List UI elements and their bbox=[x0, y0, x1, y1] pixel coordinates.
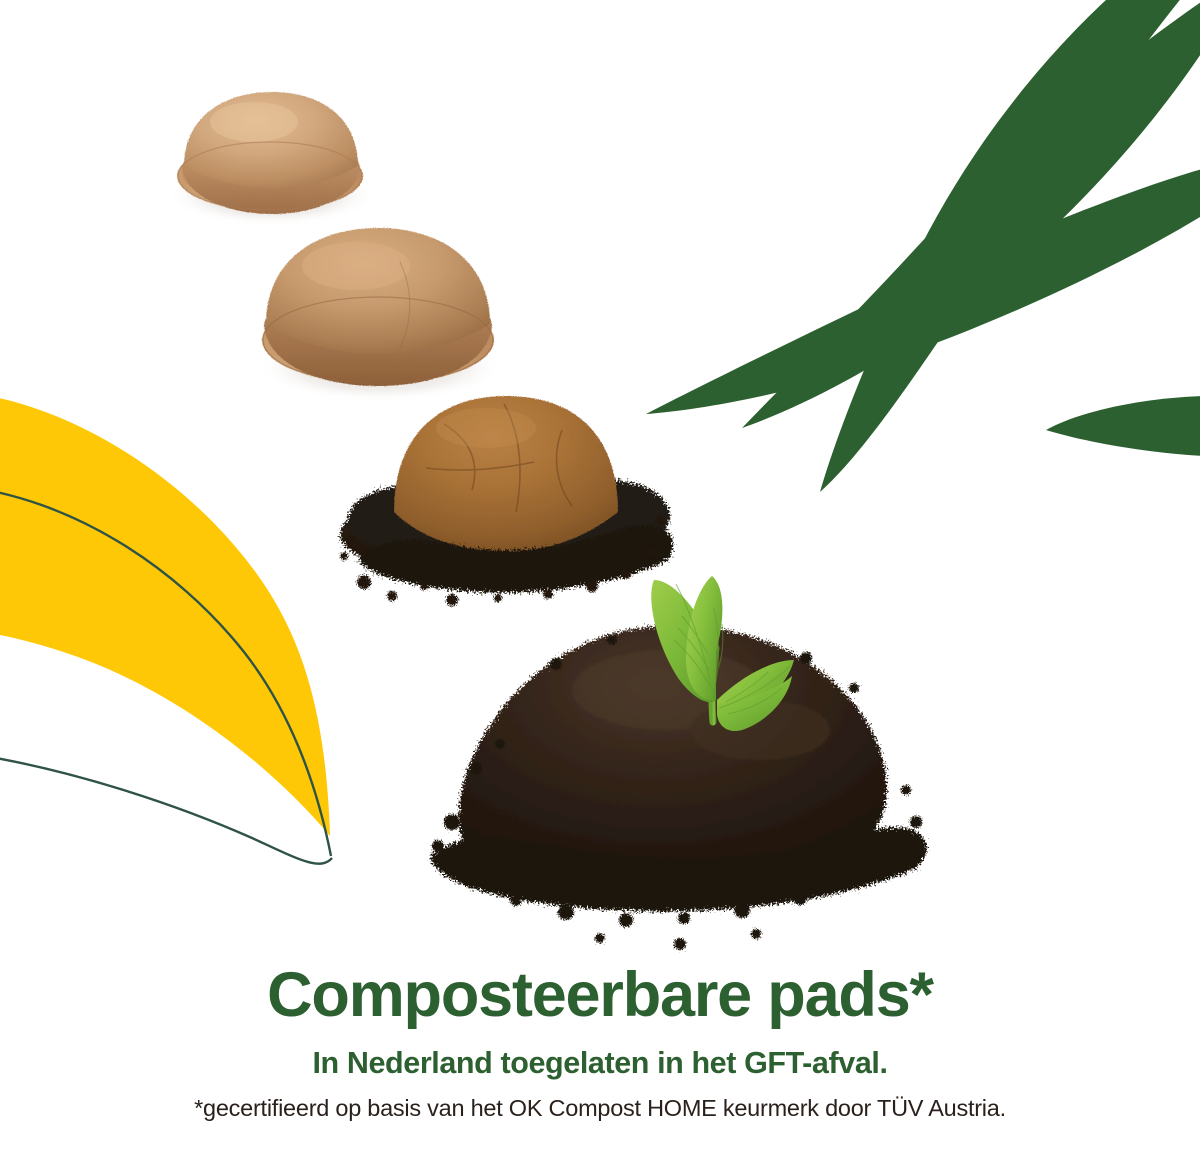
page-title: Composteerbare pads* bbox=[0, 962, 1200, 1028]
footnote-disclaimer: *gecertifieerd op basis van het OK Compo… bbox=[0, 1095, 1200, 1122]
poster-canvas: Composteerbare pads* In Nederland toegel… bbox=[0, 0, 1200, 1167]
pad-stage-2-icon bbox=[256, 228, 504, 402]
compost-stages-photo bbox=[0, 0, 1200, 975]
caption-block: Composteerbare pads* In Nederland toegel… bbox=[0, 962, 1200, 1167]
pad-stage-3-icon bbox=[340, 396, 673, 606]
pad-stage-1-icon bbox=[168, 92, 376, 226]
subtitle: In Nederland toegelaten in het GFT-afval… bbox=[0, 1046, 1200, 1081]
pad-stage-4-icon bbox=[430, 576, 927, 950]
